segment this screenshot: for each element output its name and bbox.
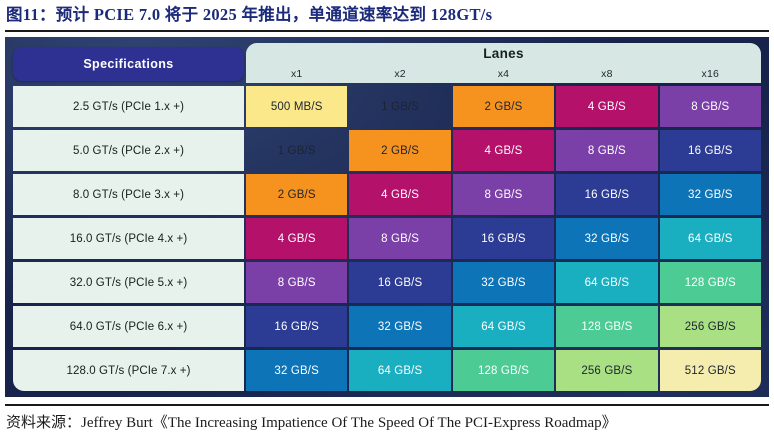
spec-cell: 64.0 GT/s (PCIe 6.x +): [13, 306, 244, 347]
lane-label-x16: x16: [660, 68, 761, 80]
throughput-cell: 256 GB/S: [660, 306, 761, 347]
throughput-cell: 4 GB/S: [349, 174, 450, 215]
spec-cell: 5.0 GT/s (PCIe 2.x +): [13, 130, 244, 171]
throughput-cell: 2 GB/S: [246, 174, 347, 215]
throughput-cell: 64 GB/S: [349, 350, 450, 391]
throughput-cell: 8 GB/S: [453, 174, 554, 215]
lanes-header-label: Lanes: [246, 43, 761, 61]
spec-cell: 2.5 GT/s (PCIe 1.x +): [13, 86, 244, 127]
throughput-cell: 4 GB/S: [556, 86, 657, 127]
throughput-cell: 16 GB/S: [660, 130, 761, 171]
throughput-cell: 16 GB/S: [556, 174, 657, 215]
footer-divider: [5, 404, 769, 406]
throughput-cell: 4 GB/S: [453, 130, 554, 171]
throughput-cell: 32 GB/S: [349, 306, 450, 347]
throughput-cell: 64 GB/S: [453, 306, 554, 347]
throughput-cell: 64 GB/S: [660, 218, 761, 259]
throughput-cell: 16 GB/S: [453, 218, 554, 259]
page-title: 图11：预计 PCIE 7.0 将于 2025 年推出，单通道速率达到 128G…: [6, 3, 768, 29]
spec-cell: 128.0 GT/s (PCIe 7.x +): [13, 350, 244, 391]
lane-label-x4: x4: [453, 68, 554, 80]
lane-label-x1: x1: [246, 68, 347, 80]
throughput-cell: 32 GB/S: [556, 218, 657, 259]
throughput-cell: 256 GB/S: [556, 350, 657, 391]
throughput-cell: 500 MB/S: [246, 86, 347, 127]
spec-cell: 8.0 GT/s (PCIe 3.x +): [13, 174, 244, 215]
spec-cell: 32.0 GT/s (PCIe 5.x +): [13, 262, 244, 303]
throughput-cell: 64 GB/S: [556, 262, 657, 303]
throughput-cell: 16 GB/S: [246, 306, 347, 347]
throughput-cell: 2 GB/S: [349, 130, 450, 171]
throughput-cell: 4 GB/S: [246, 218, 347, 259]
title-divider: [5, 30, 769, 32]
throughput-cell: 8 GB/S: [660, 86, 761, 127]
throughput-cell: 32 GB/S: [246, 350, 347, 391]
source-note: 资料来源：Jeffrey Burt《The Increasing Impatie…: [6, 412, 770, 434]
lanes-column-header: Lanesx1x2x4x8x16: [246, 43, 761, 83]
throughput-cell: 2 GB/S: [453, 86, 554, 127]
throughput-cell: 1 GB/S: [246, 130, 347, 171]
throughput-cell: 512 GB/S: [660, 350, 761, 391]
lane-label-x2: x2: [349, 68, 450, 80]
throughput-cell: 128 GB/S: [660, 262, 761, 303]
throughput-cell: 8 GB/S: [349, 218, 450, 259]
figure-page: 图11：预计 PCIE 7.0 将于 2025 年推出，单通道速率达到 128G…: [0, 0, 774, 439]
table-panel: SpecificationsLanesx1x2x4x8x162.5 GT/s (…: [5, 37, 769, 397]
lane-label-x8: x8: [556, 68, 657, 80]
specifications-column-header: Specifications: [13, 47, 244, 81]
throughput-cell: 32 GB/S: [660, 174, 761, 215]
throughput-cell: 128 GB/S: [556, 306, 657, 347]
throughput-cell: 8 GB/S: [246, 262, 347, 303]
lane-label-row: x1x2x4x8x16: [246, 68, 761, 80]
throughput-cell: 32 GB/S: [453, 262, 554, 303]
spec-cell: 16.0 GT/s (PCIe 4.x +): [13, 218, 244, 259]
throughput-cell: 128 GB/S: [453, 350, 554, 391]
throughput-cell: 8 GB/S: [556, 130, 657, 171]
pcie-speed-table: SpecificationsLanesx1x2x4x8x162.5 GT/s (…: [13, 43, 761, 391]
throughput-cell: 16 GB/S: [349, 262, 450, 303]
throughput-cell: 1 GB/S: [349, 86, 450, 127]
